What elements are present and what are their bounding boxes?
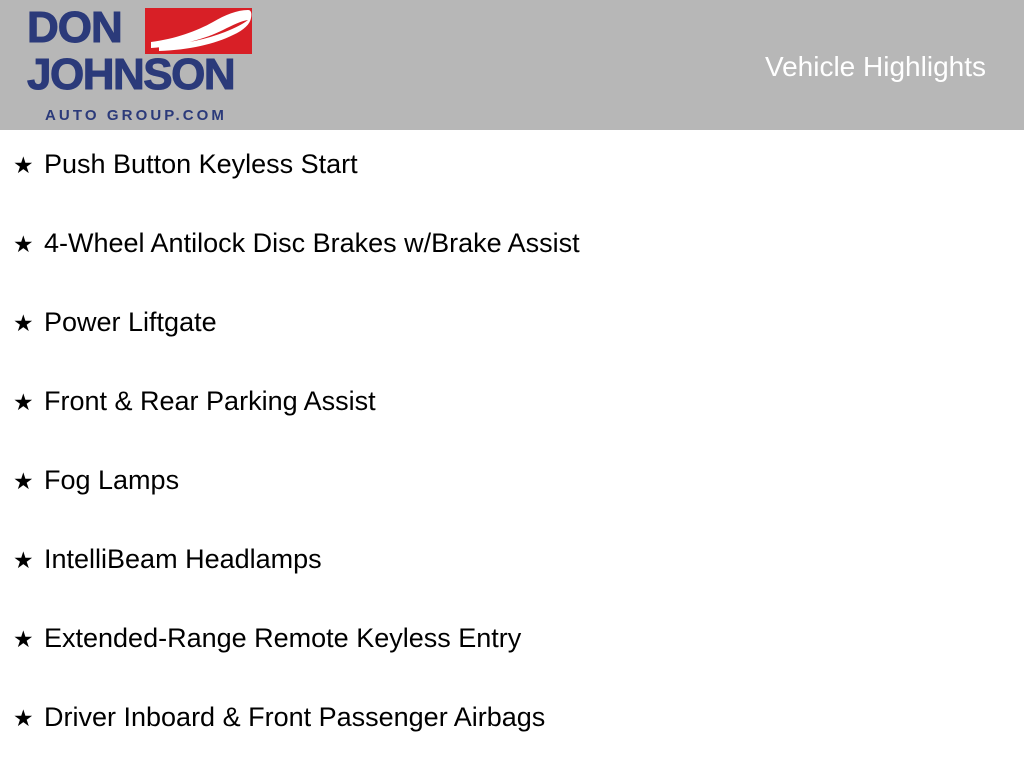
logo-red-panel — [145, 8, 252, 54]
page-header: DON JOHNSON AUTO GROUP.COM Vehicle Highl… — [0, 0, 1024, 130]
list-item: ★ Extended-Range Remote Keyless Entry — [0, 622, 1024, 701]
page-title: Vehicle Highlights — [765, 50, 986, 84]
list-item: ★ 4-Wheel Antilock Disc Brakes w/Brake A… — [0, 227, 1024, 306]
list-item-label: Fog Lamps — [44, 464, 179, 496]
list-item-label: Extended-Range Remote Keyless Entry — [44, 622, 521, 654]
star-icon: ★ — [13, 547, 44, 573]
list-item: ★ IntelliBeam Headlamps — [0, 543, 1024, 622]
list-item-label: 4-Wheel Antilock Disc Brakes w/Brake Ass… — [44, 227, 580, 259]
list-item-label: Power Liftgate — [44, 306, 217, 338]
list-item: ★ Front & Rear Parking Assist — [0, 385, 1024, 464]
list-item: ★ Power Liftgate — [0, 306, 1024, 385]
list-item: ★ Push Button Keyless Start — [0, 130, 1024, 227]
list-item-label: IntelliBeam Headlamps — [44, 543, 322, 575]
list-item: ★ Driver Inboard & Front Passenger Airba… — [0, 701, 1024, 780]
star-icon: ★ — [13, 626, 44, 652]
star-icon: ★ — [13, 231, 44, 257]
list-item-label: Front & Rear Parking Assist — [44, 385, 376, 417]
star-icon: ★ — [13, 389, 44, 415]
star-icon: ★ — [13, 152, 44, 178]
swoosh-icon — [145, 8, 252, 54]
logo-text-johnson: JOHNSON — [27, 49, 234, 101]
vehicle-highlights-list: ★ Push Button Keyless Start ★ 4-Wheel An… — [0, 130, 1024, 780]
star-icon: ★ — [13, 310, 44, 336]
logo-text-don: DON — [27, 4, 122, 52]
dealer-logo[interactable]: DON JOHNSON AUTO GROUP.COM — [14, 4, 264, 128]
logo-top-row: DON — [14, 4, 264, 54]
star-icon: ★ — [13, 705, 44, 731]
star-icon: ★ — [13, 468, 44, 494]
logo-tagline: AUTO GROUP.COM — [45, 107, 227, 125]
list-item: ★ Fog Lamps — [0, 464, 1024, 543]
list-item-label: Push Button Keyless Start — [44, 148, 358, 180]
list-item-label: Driver Inboard & Front Passenger Airbags — [44, 701, 545, 733]
